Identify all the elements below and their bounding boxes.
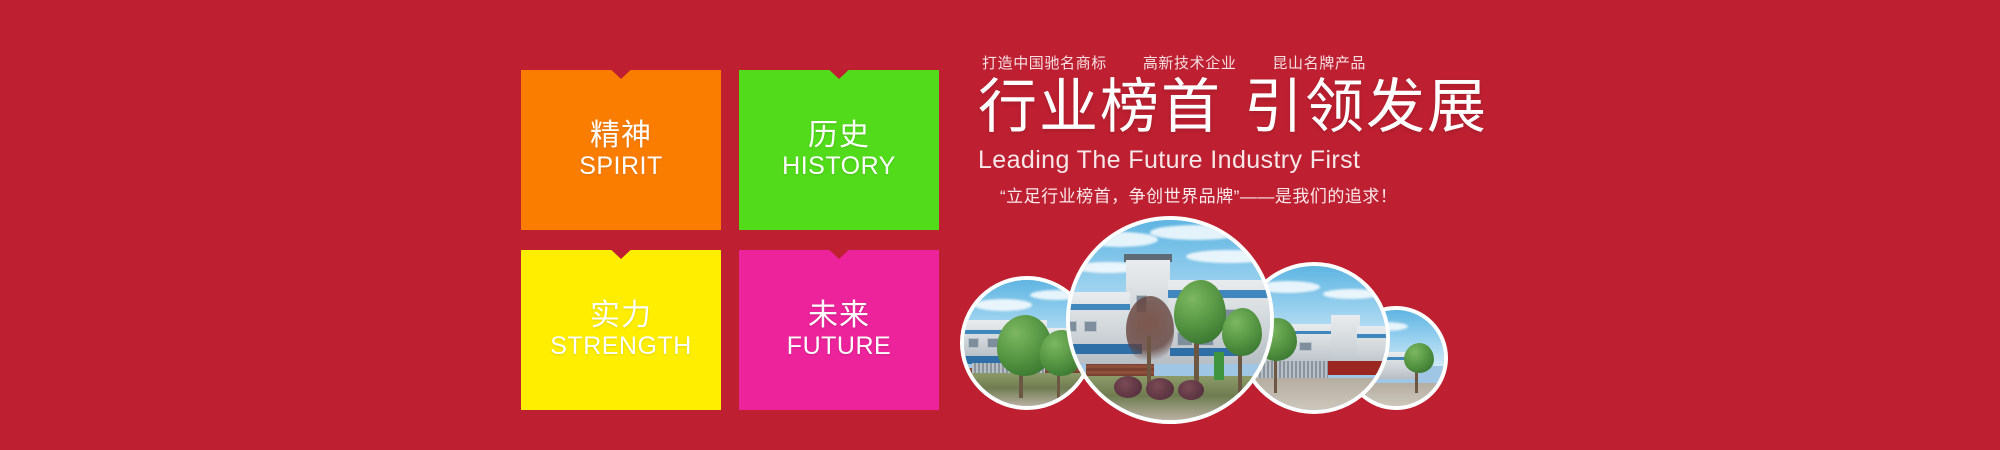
credential-item-3: 昆山名牌产品: [1272, 52, 1366, 73]
cloud-puff: [1186, 250, 1274, 264]
tile-spirit[interactable]: 精神 SPIRIT: [521, 70, 721, 230]
tile-strength-en: STRENGTH: [550, 332, 692, 360]
photo-center-scene: [1070, 220, 1270, 420]
page-title: 行业榜首引领发展: [978, 78, 1598, 137]
tile-future-en: FUTURE: [787, 332, 891, 360]
window: [1084, 321, 1096, 332]
tile-history-en: HISTORY: [782, 152, 896, 180]
value-tiles-grid: 精神 SPIRIT 历史 HISTORY 实力 STRENGTH 未来 FUTU…: [521, 70, 941, 410]
cloud-puff: [974, 299, 1032, 311]
tile-future[interactable]: 未来 FUTURE: [739, 250, 939, 410]
headline-part-1: 行业榜首: [978, 74, 1222, 140]
window: [968, 338, 979, 348]
headline-block: 打造中国驰名商标 高新技术企业 昆山名牌产品 行业榜首引领发展 Leading …: [978, 52, 1598, 207]
factory-photo-cloud: [960, 210, 1400, 450]
subtitle: Leading The Future Industry First: [978, 146, 1598, 175]
cloud-puff: [1323, 289, 1381, 299]
building-band: [1066, 304, 1130, 310]
tile-history-cn: 历史: [808, 120, 870, 152]
credentials-list: 打造中国驰名商标 高新技术企业 昆山名牌产品: [982, 52, 1598, 74]
tile-spirit-en: SPIRIT: [579, 152, 663, 180]
credential-item-2: 高新技术企业: [1143, 52, 1237, 73]
tree: [1174, 280, 1226, 344]
shrub: [1146, 378, 1174, 400]
door: [1214, 352, 1224, 380]
shrub: [1114, 376, 1142, 398]
photo-bubble-center: [1066, 216, 1274, 424]
tile-history[interactable]: 历史 HISTORY: [739, 70, 939, 230]
slogan-quote: “立足行业榜首，争创世界品牌”——是我们的追求！: [1000, 187, 1598, 207]
tile-future-cn: 未来: [808, 300, 870, 332]
building-band: [1357, 334, 1390, 338]
tile-spirit-cn: 精神: [590, 120, 652, 152]
cloud-puff: [1150, 225, 1242, 240]
shrub: [1178, 380, 1204, 400]
headline-part-2: 引领发展: [1244, 74, 1488, 140]
tree: [1222, 308, 1262, 356]
tile-strength-cn: 实力: [590, 300, 652, 332]
tree: [1404, 343, 1435, 374]
promo-banner: 精神 SPIRIT 历史 HISTORY 实力 STRENGTH 未来 FUTU…: [0, 0, 2000, 450]
tile-strength[interactable]: 实力 STRENGTH: [521, 250, 721, 410]
window: [1066, 321, 1077, 332]
window: [1299, 342, 1312, 352]
cloud-puff: [1082, 232, 1158, 247]
signage-board: [1328, 361, 1390, 375]
credential-item-1: 打造中国驰名商标: [982, 52, 1107, 73]
